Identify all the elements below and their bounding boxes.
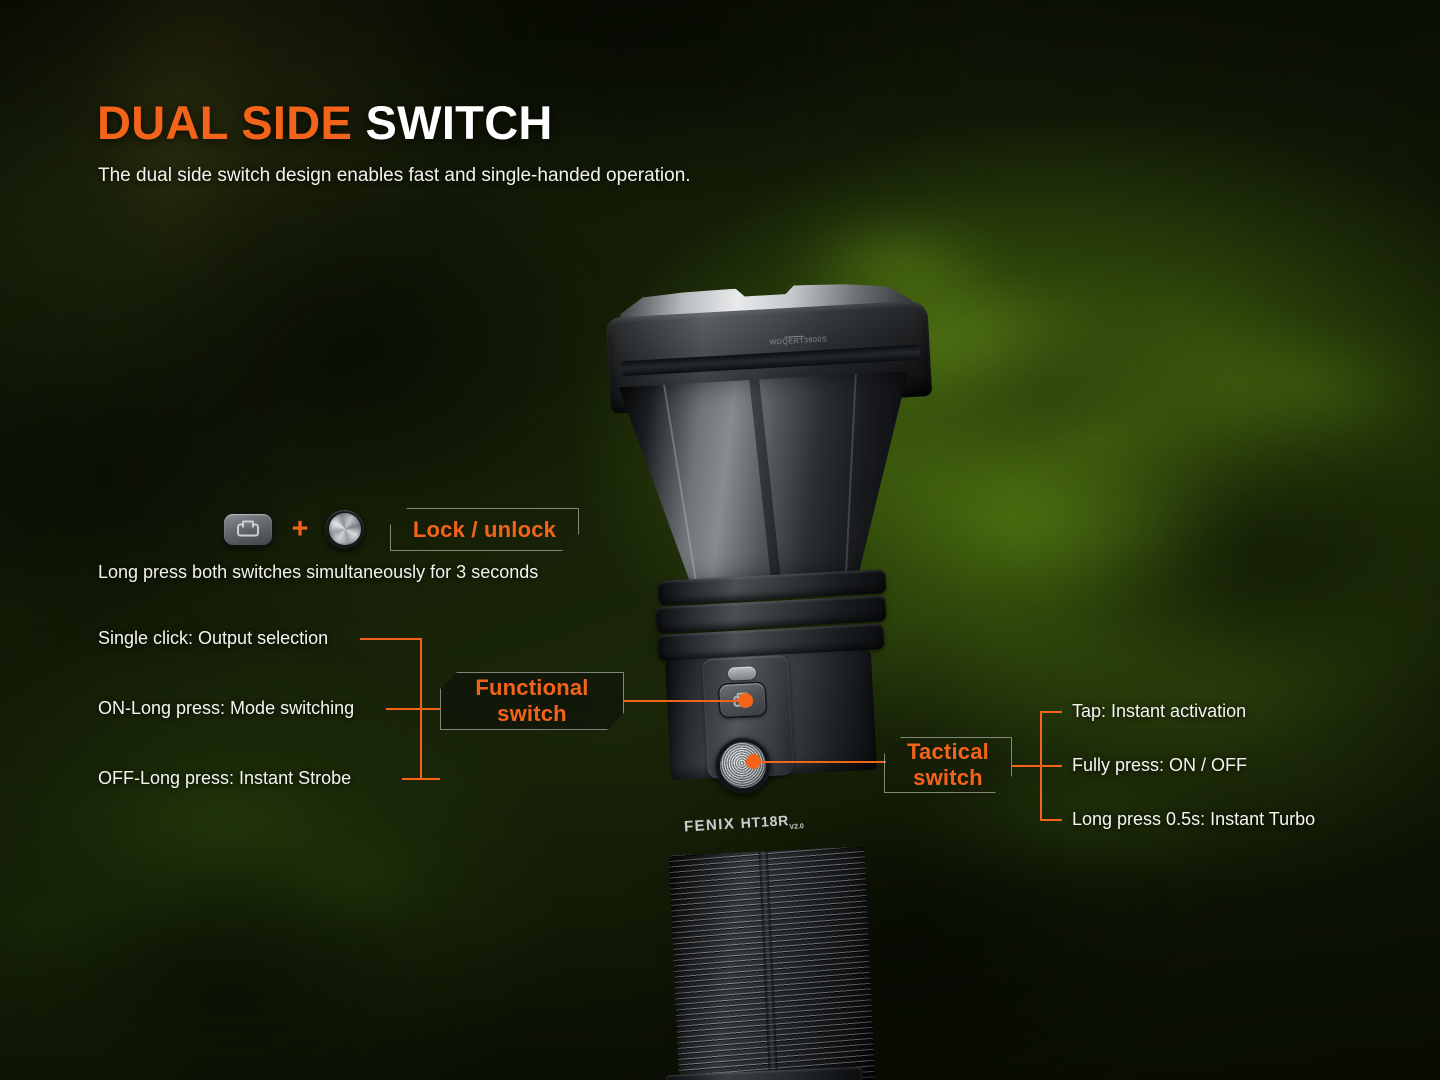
connector-line	[1012, 765, 1062, 767]
connector-line	[420, 638, 422, 780]
flashlight-product-image: WDQERT3800S FENIX HT18RV2.0	[600, 275, 1020, 1080]
warning-triangle-icon: WDQERT3800S	[767, 319, 828, 346]
battery-glyph-icon	[237, 523, 259, 536]
connector-line	[624, 700, 744, 702]
plus-icon: +	[287, 512, 313, 546]
functional-item-1: Single click: Output selection	[98, 628, 328, 649]
functional-switch-icon	[224, 514, 272, 545]
tactical-item-2: Fully press: ON / OFF	[1072, 755, 1247, 776]
tactical-item-1: Tap: Instant activation	[1072, 701, 1246, 722]
page-title-rest: SWITCH	[366, 96, 553, 149]
connector-line	[752, 761, 886, 763]
functional-item-2: ON-Long press: Mode switching	[98, 698, 354, 719]
connector-line	[1040, 819, 1062, 821]
brand-name: FENIX	[684, 815, 736, 835]
functional-switch-badge-label: Functional switch	[441, 675, 623, 727]
product-branding: FENIX HT18RV2.0	[684, 808, 865, 838]
functional-item-3: OFF-Long press: Instant Strobe	[98, 768, 351, 789]
connector-line	[1040, 711, 1062, 713]
flashlight-body-knurling	[669, 847, 876, 1080]
tactical-item-3: Long press 0.5s: Instant Turbo	[1072, 809, 1315, 830]
connector-dot	[738, 693, 753, 708]
infographic-slide: DUAL SIDE SWITCH The dual side switch de…	[0, 0, 1440, 1080]
page-title: DUAL SIDE SWITCH	[97, 95, 553, 150]
lock-unlock-hint: Long press both switches simultaneously …	[98, 562, 538, 583]
page-title-accent: DUAL SIDE	[97, 96, 352, 149]
flashlight-reflector	[619, 371, 920, 587]
lock-unlock-badge: Lock / unlock	[390, 508, 579, 551]
battery-indicator-light	[728, 666, 757, 680]
functional-switch-badge: Functional switch	[440, 672, 624, 730]
tactical-switch-icon	[325, 510, 364, 549]
page-subtitle: The dual side switch design enables fast…	[98, 165, 691, 187]
tactical-switch-badge: Tactical switch	[884, 737, 1012, 793]
model-name: HT18R	[740, 812, 789, 831]
version-label: V2.0	[789, 823, 804, 831]
tactical-switch-badge-label: Tactical switch	[885, 739, 1011, 791]
connector-dot	[746, 754, 761, 769]
connector-line	[386, 708, 440, 710]
connector-line	[360, 638, 422, 640]
